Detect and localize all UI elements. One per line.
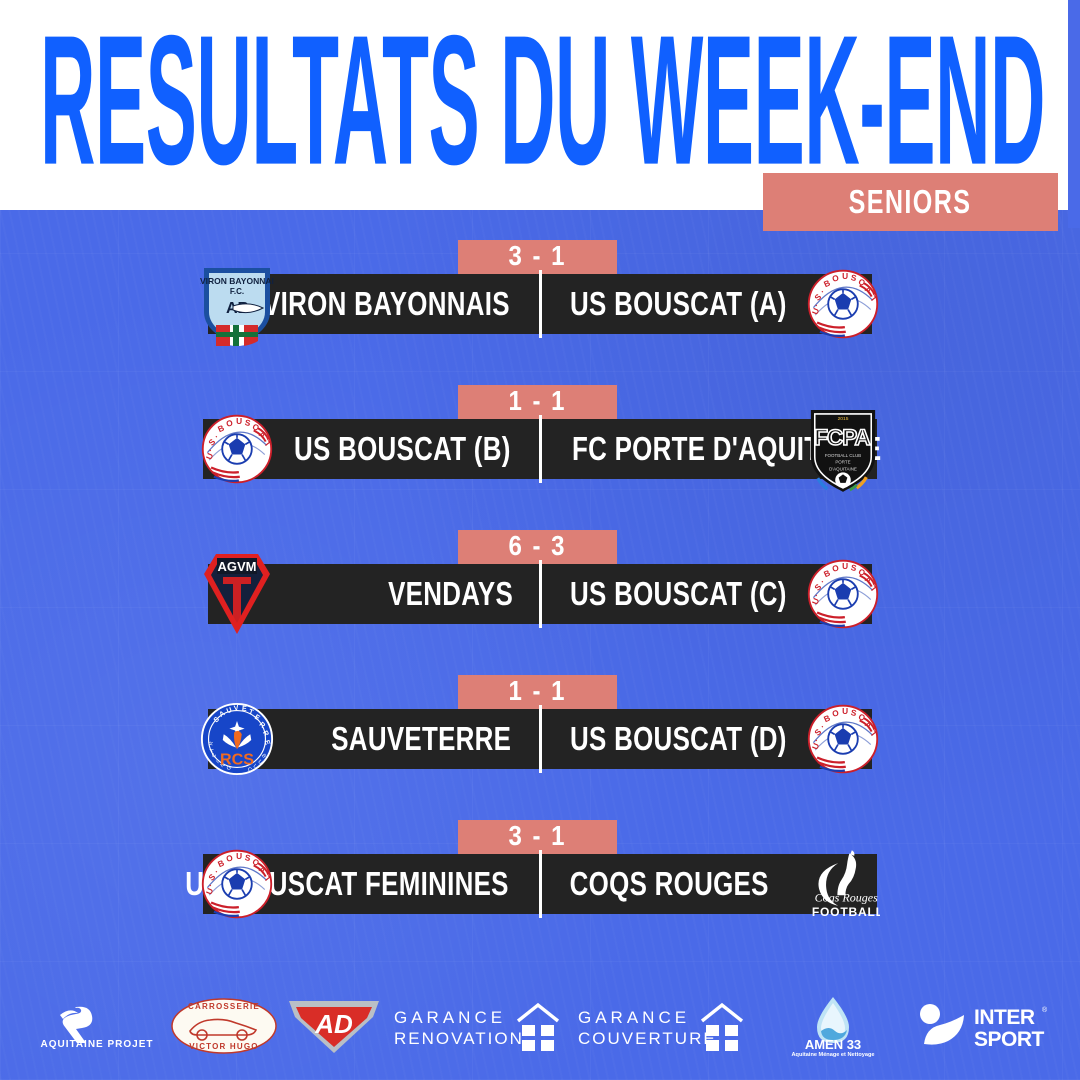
svg-text:PORTE: PORTE xyxy=(835,460,850,465)
home-team-name: SAUVETERRE xyxy=(332,720,535,758)
match-divider xyxy=(539,560,542,628)
match-row: 6 - 3 AGVM VENDAYS US BOUSCAT (C) xyxy=(0,526,1080,671)
category-badge-label: SENIORS xyxy=(849,183,972,222)
svg-text:RCS: RCS xyxy=(220,751,254,769)
svg-text:F.C.: F.C. xyxy=(230,287,244,296)
page-title: RESULTATS DU WEEK-END xyxy=(40,6,1045,196)
us-bouscat-crest: U . S . B O U S C A T xyxy=(806,552,880,636)
home-team-name: AVIRON BAYONNAIS xyxy=(246,285,533,323)
score-text: 1 - 1 xyxy=(508,386,566,418)
away-team-name: US BOUSCAT (C) xyxy=(547,575,787,613)
sponsor-logo-garance-renovation: GARANCE RENOVATION xyxy=(390,991,566,1061)
svg-text:Coqs Rouges: Coqs Rouges xyxy=(815,891,879,905)
home-team-name: VENDAYS xyxy=(388,575,536,613)
us-bouscat-crest: U . S . B O U S C A T xyxy=(806,697,880,781)
svg-text:VICTOR HUGO: VICTOR HUGO xyxy=(189,1042,259,1051)
score-text: 1 - 1 xyxy=(508,676,566,708)
match-divider xyxy=(539,850,542,918)
score-text: 3 - 1 xyxy=(508,241,566,273)
svg-text:®: ® xyxy=(1042,1006,1048,1014)
score-badge: 6 - 3 xyxy=(458,530,617,564)
svg-text:AVIRON BAYONNAIS: AVIRON BAYONNAIS xyxy=(200,276,274,286)
svg-text:RENOVATION: RENOVATION xyxy=(394,1029,524,1048)
svg-text:AD: AD xyxy=(314,1009,353,1039)
match-row: 3 - 1 AVIRON BAYONNAIS F.C. AB AVIRON BA… xyxy=(0,236,1080,381)
sponsor-bar: AQUITAINE PROJET CARROSSERIE VICTOR HUGO… xyxy=(0,972,1080,1080)
svg-text:CARROSSERIE: CARROSSERIE xyxy=(188,1002,260,1011)
match-divider xyxy=(539,270,542,338)
svg-text:AMEN 33: AMEN 33 xyxy=(805,1037,861,1052)
svg-text:AGVM: AGVM xyxy=(218,559,257,574)
svg-text:Aquitaine Ménage et Nettoyage: Aquitaine Ménage et Nettoyage xyxy=(792,1052,875,1057)
match-row: 1 - 1 S A U V E T E R R E R xyxy=(0,671,1080,816)
us-bouscat-crest: U . S . B O U S C A T xyxy=(200,842,274,926)
svg-text:2015: 2015 xyxy=(838,416,849,422)
sauveterre-rcs-crest: S A U V E T E R R E R A C I N G xyxy=(200,697,274,781)
fcpa-crest: 2015 FCPA FOOTBALL CLUB PORTE D'AQUITAIN… xyxy=(806,407,880,491)
svg-text:COUVERTURE: COUVERTURE xyxy=(578,1029,717,1048)
svg-text:GARANCE: GARANCE xyxy=(578,1008,690,1027)
score-badge: 3 - 1 xyxy=(458,240,617,274)
svg-text:D'AQUITAINE: D'AQUITAINE xyxy=(829,466,857,471)
score-badge: 3 - 1 xyxy=(458,820,617,854)
score-badge: 1 - 1 xyxy=(458,385,617,419)
svg-text:U: U xyxy=(236,416,242,426)
svg-text:FOOTBALL: FOOTBALL xyxy=(812,905,880,919)
score-text: 6 - 3 xyxy=(508,531,566,563)
svg-text:FOOTBALL CLUB: FOOTBALL CLUB xyxy=(825,453,861,458)
away-team-name: US BOUSCAT (A) xyxy=(547,285,787,323)
score-badge: 1 - 1 xyxy=(458,675,617,709)
us-bouscat-crest: U . S . B O U S C A T xyxy=(806,262,880,346)
coqs-rouges-crest: Coqs Rouges FOOTBALL xyxy=(806,842,880,926)
svg-text:SPORT: SPORT xyxy=(974,1028,1045,1051)
score-text: 3 - 1 xyxy=(508,821,566,853)
svg-text:FCPA: FCPA xyxy=(814,425,870,450)
away-team-name: US BOUSCAT (D) xyxy=(547,720,787,758)
us-bouscat-crest: U . S . B O U S C A T xyxy=(200,407,274,491)
away-team-name: COQS ROUGES xyxy=(547,865,769,903)
agvm-crest: AGVM xyxy=(200,552,274,636)
category-badge: SENIORS xyxy=(763,173,1058,231)
svg-text:U: U xyxy=(842,271,848,281)
svg-text:U: U xyxy=(842,706,848,716)
svg-text:AQUITAINE PROJET: AQUITAINE PROJET xyxy=(40,1039,153,1050)
aviron-bayonnais-crest: AVIRON BAYONNAIS F.C. AB xyxy=(200,262,274,346)
match-divider xyxy=(539,415,542,483)
sponsor-logo-intersport: INTER SPORT ® xyxy=(916,991,1048,1061)
match-row: 3 - 1 U . S . B O U S C xyxy=(0,816,1080,961)
home-team-name: US BOUSCAT (B) xyxy=(294,430,534,468)
right-edge-strip xyxy=(1068,0,1080,228)
svg-text:U: U xyxy=(236,851,242,861)
sponsor-logo-garance-couverture: GARANCE COUVERTURE xyxy=(574,991,750,1061)
match-divider xyxy=(539,705,542,773)
match-row: 1 - 1 U . S . B O U S C xyxy=(0,381,1080,526)
svg-text:INTER: INTER xyxy=(974,1006,1035,1029)
sponsor-logo-carrosserie-victor-hugo: CARROSSERIE VICTOR HUGO xyxy=(170,991,278,1061)
sponsor-logo-ad: AD xyxy=(286,991,382,1061)
match-list: 3 - 1 AVIRON BAYONNAIS F.C. AB AVIRON BA… xyxy=(0,236,1080,961)
svg-text:GARANCE: GARANCE xyxy=(394,1008,506,1027)
sponsor-logo-aquitaine-projet: AQUITAINE PROJET xyxy=(32,991,162,1061)
sponsor-logo-amen-33: AMEN 33 Aquitaine Ménage et Nettoyage xyxy=(758,991,908,1061)
svg-text:U: U xyxy=(842,561,848,571)
